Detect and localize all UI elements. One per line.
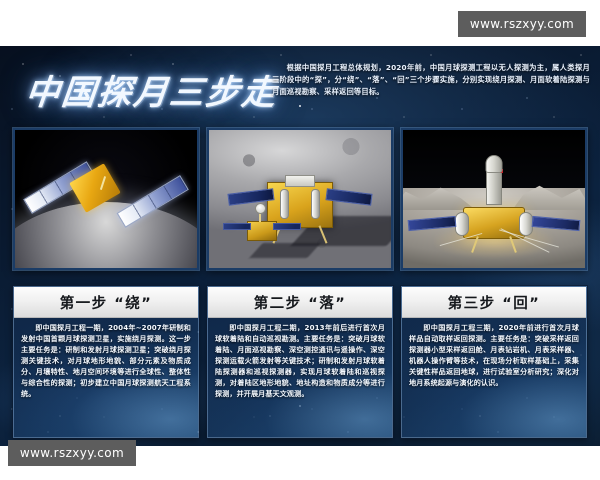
step-card-2: 第二步 “落” 即中国探月工程二期，2013年前后进行首次月球软着陆和自动巡视勘… [207,286,393,438]
step-card-2-title: 第二步 “落” [208,287,392,318]
step-card-1-body: 即中国探月工程一期，2004年~2007年研制和发射中国首颗月球探测卫星，实施绕… [14,318,198,437]
intro-paragraph: 根据中国探月工程总体规划，2020年前，中国月球探测工程以无人探测为主，属人类探… [272,62,590,97]
rover-body [247,221,277,241]
fuel-tank-right [311,189,320,219]
page-title: 中国探月三步走 [23,60,269,118]
rover-solar-panel-left [223,223,251,230]
rover-solar-panel-right [273,223,301,230]
step-card-3-body: 即中国探月工程三期，2020年前进行首次月球样品自动取样返回探测。主要任务是：突… [402,318,586,437]
sample-return-image [401,128,587,270]
lander-rover-image [207,128,393,270]
step-card-1: 第一步 “绕” 即中国探月工程一期，2004年~2007年研制和发射中国首颗月球… [13,286,199,438]
step-card-3: 第三步 “回” 即中国探月工程三期，2020年前进行首次月球样品自动取样返回探测… [401,286,587,438]
step-cards: 第一步 “绕” 即中国探月工程一期，2004年~2007年研制和发射中国首颗月球… [0,286,600,446]
step-card-3-title: 第三步 “回” [402,287,586,318]
lander-instrument-box [285,175,315,187]
step-card-2-body: 即中国探月工程二期，2013年前后进行首次月球软着陆和自动巡视勘测。主要任务是：… [208,318,392,437]
descent-tank-left [455,212,469,236]
watermark-top: www.rszxyy.com [458,11,586,37]
step-card-1-title: 第一步 “绕” [14,287,198,318]
poster-page: www.rszxyy.com 中国探月三步走 根据中国探月工程总体规划，2020… [0,0,600,480]
illustration-panels [0,128,600,280]
fuel-tank-left [280,189,289,219]
ascent-vehicle-stage [486,171,502,205]
watermark-bottom: www.rszxyy.com [8,440,136,466]
return-capsule [486,155,503,173]
orbiter-moon-image [13,128,199,270]
poster-header: 中国探月三步走 根据中国探月工程总体规划，2020年前，中国月球探测工程以无人探… [0,46,600,122]
poster-canvas: 中国探月三步走 根据中国探月工程总体规划，2020年前，中国月球探测工程以无人探… [0,46,600,446]
